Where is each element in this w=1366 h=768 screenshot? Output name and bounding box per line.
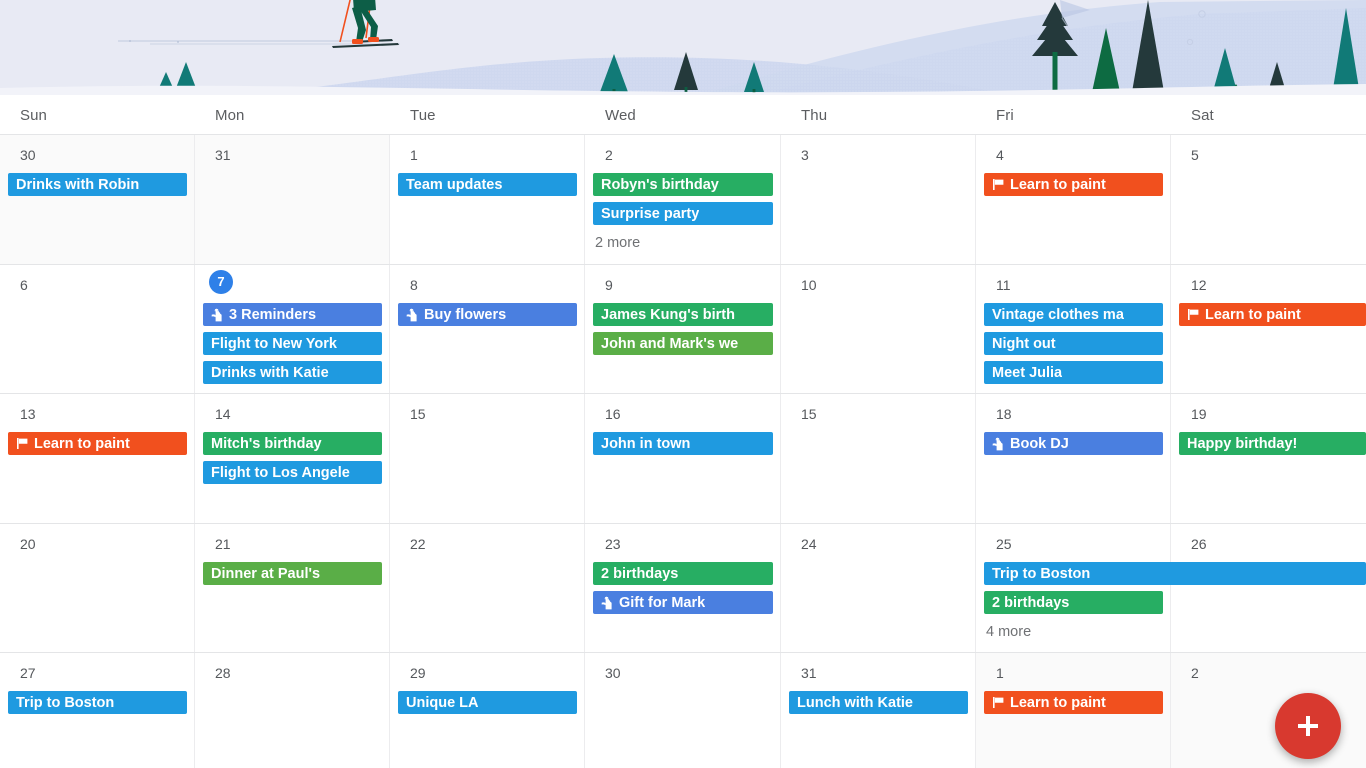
- day-number: 8: [410, 276, 418, 294]
- event-title: Robyn's birthday: [601, 177, 719, 193]
- event-title: James Kung's birth: [601, 307, 735, 323]
- event-title: John in town: [601, 436, 690, 452]
- reminder-icon: [601, 596, 614, 610]
- event-title: Learn to paint: [1010, 695, 1106, 711]
- flag-icon: [992, 696, 1005, 709]
- calendar-event[interactable]: John in town: [593, 432, 773, 455]
- day-number: 21: [215, 535, 231, 553]
- event-title: Trip to Boston: [992, 566, 1090, 582]
- day-number: 13: [20, 405, 36, 423]
- day-number: 12: [1191, 276, 1207, 294]
- calendar-event[interactable]: Robyn's birthday: [593, 173, 773, 196]
- day-number: 20: [20, 535, 36, 553]
- event-title: Learn to paint: [1205, 307, 1301, 323]
- day-number: 15: [801, 405, 817, 423]
- calendar-event[interactable]: 2 birthdays: [593, 562, 773, 585]
- event-title: Flight to Los Angele: [211, 465, 350, 481]
- day-number: 1: [996, 664, 1004, 682]
- weekday-header-row: SunMonTueWedThuFriSat: [0, 95, 1366, 135]
- day-number: 1: [410, 146, 418, 164]
- day-cell[interactable]: 14: [195, 394, 390, 523]
- plus-icon: [1295, 713, 1321, 739]
- calendar-event[interactable]: Book DJ: [984, 432, 1163, 455]
- reminder-icon: [992, 437, 1005, 451]
- reminder-icon: [406, 308, 419, 322]
- day-number: 4: [996, 146, 1004, 164]
- day-number: 2: [605, 146, 613, 164]
- winter-ski-scene-svg: [0, 0, 1366, 95]
- calendar-event[interactable]: Unique LA: [398, 691, 577, 714]
- day-cell[interactable]: 24: [781, 524, 976, 652]
- calendar-event[interactable]: Trip to Boston: [8, 691, 187, 714]
- weekday-label-tue: Tue: [410, 95, 436, 135]
- day-cell[interactable]: 26: [1171, 524, 1366, 652]
- day-cell[interactable]: 3: [781, 135, 976, 264]
- calendar-event[interactable]: Meet Julia: [984, 361, 1163, 384]
- day-cell[interactable]: 20: [0, 524, 195, 652]
- day-cell[interactable]: 28: [195, 653, 390, 768]
- calendar-event[interactable]: Mitch's birthday: [203, 432, 382, 455]
- day-number: 22: [410, 535, 426, 553]
- day-cell[interactable]: 8: [390, 265, 585, 393]
- day-number: 29: [410, 664, 426, 682]
- add-event-button[interactable]: [1275, 693, 1341, 759]
- event-title: Flight to New York: [211, 336, 337, 352]
- event-title: Surprise party: [601, 206, 699, 222]
- calendar-event[interactable]: Trip to Boston: [984, 562, 1366, 585]
- week-row: 67891011123 RemindersFlight to New YorkD…: [0, 265, 1366, 394]
- day-cell[interactable]: 18: [976, 394, 1171, 523]
- day-number: 2: [1191, 664, 1199, 682]
- calendar-event[interactable]: Happy birthday!: [1179, 432, 1366, 455]
- flag-icon: [992, 178, 1005, 191]
- calendar-event[interactable]: 2 birthdays: [984, 591, 1163, 614]
- event-title: 3 Reminders: [229, 307, 316, 323]
- day-cell[interactable]: 31: [195, 135, 390, 264]
- reminder-icon: [406, 308, 419, 322]
- event-title: Meet Julia: [992, 365, 1062, 381]
- day-cell[interactable]: 16: [585, 394, 781, 523]
- day-cell[interactable]: 30: [585, 653, 781, 768]
- day-number: 27: [20, 664, 36, 682]
- calendar-event[interactable]: 3 Reminders: [203, 303, 382, 326]
- calendar-event[interactable]: Team updates: [398, 173, 577, 196]
- day-number: 3: [801, 146, 809, 164]
- calendar-event[interactable]: Surprise party: [593, 202, 773, 225]
- month-grid: 303112345Drinks with RobinTeam updatesRo…: [0, 135, 1366, 768]
- calendar-event[interactable]: Night out: [984, 332, 1163, 355]
- day-cell[interactable]: 23: [585, 524, 781, 652]
- flag-icon: [16, 437, 29, 450]
- day-number: 19: [1191, 405, 1207, 423]
- event-title: Learn to paint: [1010, 177, 1106, 193]
- event-title: Night out: [992, 336, 1056, 352]
- day-number: 10: [801, 276, 817, 294]
- day-cell[interactable]: 9: [585, 265, 781, 393]
- day-number: 23: [605, 535, 621, 553]
- calendar-event[interactable]: Gift for Mark: [593, 591, 773, 614]
- event-title: Unique LA: [406, 695, 479, 711]
- day-cell[interactable]: 30: [0, 135, 195, 264]
- week-row: 13141516151819Learn to paintMitch's birt…: [0, 394, 1366, 524]
- event-title: 2 birthdays: [992, 595, 1069, 611]
- event-title: Buy flowers: [424, 307, 506, 323]
- day-cell[interactable]: 21: [195, 524, 390, 652]
- flag-icon: [992, 696, 1005, 709]
- reminder-icon: [211, 308, 224, 322]
- calendar-event[interactable]: John and Mark's we: [593, 332, 773, 355]
- flag-icon: [992, 178, 1005, 191]
- weekday-label-sat: Sat: [1191, 95, 1214, 135]
- event-title: Mitch's birthday: [211, 436, 322, 452]
- calendar-event[interactable]: Learn to paint: [984, 691, 1163, 714]
- day-cell[interactable]: 10: [781, 265, 976, 393]
- event-title: Book DJ: [1010, 436, 1069, 452]
- day-cell[interactable]: 19: [1171, 394, 1366, 523]
- event-title: Dinner at Paul's: [211, 566, 320, 582]
- event-title: Gift for Mark: [619, 595, 705, 611]
- calendar-event[interactable]: Learn to paint: [984, 173, 1163, 196]
- day-cell[interactable]: 15: [781, 394, 976, 523]
- calendar-event[interactable]: Flight to New York: [203, 332, 382, 355]
- today-date-badge: 7: [209, 270, 233, 294]
- weekday-label-sun: Sun: [20, 95, 47, 135]
- day-cell[interactable]: 5: [1171, 135, 1366, 264]
- day-number: 11: [996, 276, 1011, 294]
- day-number: 26: [1191, 535, 1207, 553]
- event-title: John and Mark's we: [601, 336, 738, 352]
- event-title: Learn to paint: [34, 436, 130, 452]
- week-row: 303112345Drinks with RobinTeam updatesRo…: [0, 135, 1366, 265]
- day-number: 9: [605, 276, 613, 294]
- day-number: 18: [996, 405, 1012, 423]
- weekday-label-wed: Wed: [605, 95, 636, 135]
- calendar-event[interactable]: Dinner at Paul's: [203, 562, 382, 585]
- flag-icon: [1187, 308, 1200, 321]
- day-cell[interactable]: 6: [0, 265, 195, 393]
- calendar-event[interactable]: Learn to paint: [8, 432, 187, 455]
- day-number: 16: [605, 405, 621, 423]
- day-number: 24: [801, 535, 817, 553]
- day-cell[interactable]: 13: [0, 394, 195, 523]
- day-number: 30: [605, 664, 621, 682]
- event-title: Lunch with Katie: [797, 695, 913, 711]
- calendar-event[interactable]: Flight to Los Angele: [203, 461, 382, 484]
- day-cell[interactable]: 22: [390, 524, 585, 652]
- day-number: 30: [20, 146, 36, 164]
- event-title: Team updates: [406, 177, 502, 193]
- reminder-icon: [601, 596, 614, 610]
- week-row: 20212223242526Dinner at Paul's2 birthday…: [0, 524, 1366, 653]
- day-cell[interactable]: 4: [976, 135, 1171, 264]
- reminder-icon: [211, 308, 224, 322]
- event-title: 2 birthdays: [601, 566, 678, 582]
- more-events-link[interactable]: 4 more: [986, 622, 1031, 642]
- calendar-event[interactable]: Buy flowers: [398, 303, 577, 326]
- event-title: Drinks with Robin: [16, 177, 139, 193]
- week-row: 272829303112Trip to BostonUnique LALunch…: [0, 653, 1366, 768]
- weekday-label-thu: Thu: [801, 95, 827, 135]
- day-cell[interactable]: 15: [390, 394, 585, 523]
- day-cell[interactable]: 12: [1171, 265, 1366, 393]
- day-number: 5: [1191, 146, 1199, 164]
- event-title: Vintage clothes ma: [992, 307, 1124, 323]
- calendar-event[interactable]: Vintage clothes ma: [984, 303, 1163, 326]
- day-number: 31: [215, 146, 231, 164]
- day-number: 28: [215, 664, 231, 682]
- day-number: 6: [20, 276, 28, 294]
- header-illustration-banner: [0, 0, 1366, 95]
- event-title: Happy birthday!: [1187, 436, 1297, 452]
- calendar-event[interactable]: James Kung's birth: [593, 303, 773, 326]
- calendar-event[interactable]: Drinks with Robin: [8, 173, 187, 196]
- calendar-event[interactable]: Drinks with Katie: [203, 361, 382, 384]
- more-events-link[interactable]: 2 more: [595, 233, 640, 253]
- day-cell[interactable]: 1: [390, 135, 585, 264]
- weekday-label-mon: Mon: [215, 95, 244, 135]
- calendar-event[interactable]: Lunch with Katie: [789, 691, 968, 714]
- reminder-icon: [992, 437, 1005, 451]
- flag-icon: [16, 437, 29, 450]
- flag-icon: [1187, 308, 1200, 321]
- day-number: 31: [801, 664, 817, 682]
- day-number: 14: [215, 405, 231, 423]
- weekday-label-fri: Fri: [996, 95, 1014, 135]
- day-number: 25: [996, 535, 1012, 553]
- day-number: 15: [410, 405, 426, 423]
- event-title: Trip to Boston: [16, 695, 114, 711]
- event-title: Drinks with Katie: [211, 365, 329, 381]
- calendar-event[interactable]: Learn to paint: [1179, 303, 1366, 326]
